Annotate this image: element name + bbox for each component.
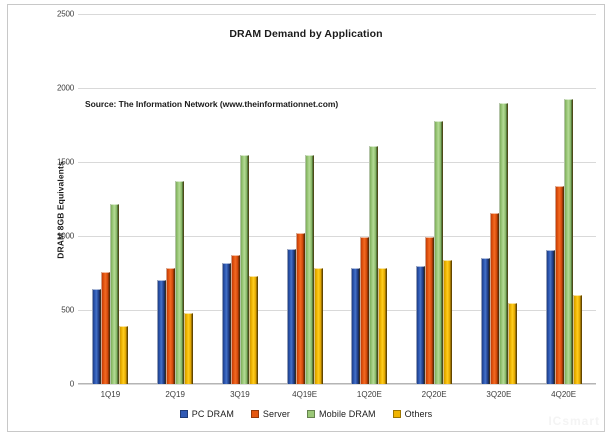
- x-tick-label: 2Q20E: [422, 390, 447, 399]
- bar[interactable]: [481, 258, 490, 384]
- y-tick-label: 0: [30, 380, 74, 389]
- bar-group: [143, 14, 208, 384]
- legend-swatch-icon: [393, 410, 401, 418]
- bar[interactable]: [92, 289, 101, 384]
- bar-group: [531, 14, 596, 384]
- bar[interactable]: [546, 250, 555, 384]
- bar[interactable]: [184, 313, 193, 384]
- x-tick-label: 1Q20E: [357, 390, 382, 399]
- legend-swatch-icon: [307, 410, 315, 418]
- bar[interactable]: [555, 186, 564, 384]
- gridline: [78, 384, 596, 385]
- bar[interactable]: [443, 260, 452, 384]
- bar[interactable]: [360, 237, 369, 384]
- bar[interactable]: [231, 255, 240, 385]
- bar[interactable]: [508, 303, 517, 384]
- plot-area: [78, 14, 596, 384]
- bar[interactable]: [425, 237, 434, 384]
- chart-legend: PC DRAMServerMobile DRAMOthers: [0, 409, 612, 419]
- bar-group: [337, 14, 402, 384]
- bar[interactable]: [434, 121, 443, 384]
- bar[interactable]: [222, 263, 231, 384]
- legend-label: PC DRAM: [192, 409, 234, 419]
- bar[interactable]: [101, 272, 110, 384]
- legend-item[interactable]: PC DRAM: [180, 409, 234, 419]
- bar[interactable]: [564, 99, 573, 384]
- bar-group: [272, 14, 337, 384]
- x-tick-label: 2Q19: [165, 390, 185, 399]
- legend-item[interactable]: Server: [251, 409, 290, 419]
- legend-label: Mobile DRAM: [319, 409, 376, 419]
- bar[interactable]: [314, 268, 323, 384]
- bar-group: [402, 14, 467, 384]
- legend-item[interactable]: Others: [393, 409, 433, 419]
- bar[interactable]: [499, 103, 508, 384]
- bar[interactable]: [378, 268, 387, 384]
- bar-group: [467, 14, 532, 384]
- y-axis-ticks: 05001000150020002500: [22, 14, 74, 384]
- x-tick-label: 3Q19: [230, 390, 250, 399]
- x-tick-label: 1Q19: [101, 390, 121, 399]
- bar[interactable]: [175, 181, 184, 385]
- legend-label: Others: [405, 409, 433, 419]
- bar[interactable]: [110, 204, 119, 384]
- bar[interactable]: [287, 249, 296, 384]
- legend-swatch-icon: [251, 410, 259, 418]
- legend-swatch-icon: [180, 410, 188, 418]
- chart-container: DRAM Demand by Application Source: The I…: [0, 0, 612, 438]
- x-tick-label: 3Q20E: [486, 390, 511, 399]
- bar[interactable]: [351, 268, 360, 384]
- x-tick-label: 4Q19E: [292, 390, 317, 399]
- bar[interactable]: [249, 276, 258, 384]
- y-tick-label: 2000: [30, 84, 74, 93]
- legend-label: Server: [263, 409, 290, 419]
- y-tick-label: 1000: [30, 232, 74, 241]
- bar[interactable]: [416, 266, 425, 384]
- watermark: ICsmart: [548, 414, 600, 428]
- bar[interactable]: [369, 146, 378, 384]
- bar[interactable]: [119, 326, 128, 384]
- bar[interactable]: [490, 213, 499, 384]
- bar[interactable]: [157, 280, 166, 384]
- legend-item[interactable]: Mobile DRAM: [307, 409, 376, 419]
- bar-group: [78, 14, 143, 384]
- x-tick-label: 4Q20E: [551, 390, 576, 399]
- y-tick-label: 500: [30, 306, 74, 315]
- bar[interactable]: [240, 155, 249, 384]
- bar[interactable]: [166, 268, 175, 384]
- bar[interactable]: [573, 295, 582, 384]
- bar-group: [208, 14, 273, 384]
- y-tick-label: 2500: [30, 10, 74, 19]
- y-tick-label: 1500: [30, 158, 74, 167]
- bar[interactable]: [296, 233, 305, 384]
- bar[interactable]: [305, 155, 314, 384]
